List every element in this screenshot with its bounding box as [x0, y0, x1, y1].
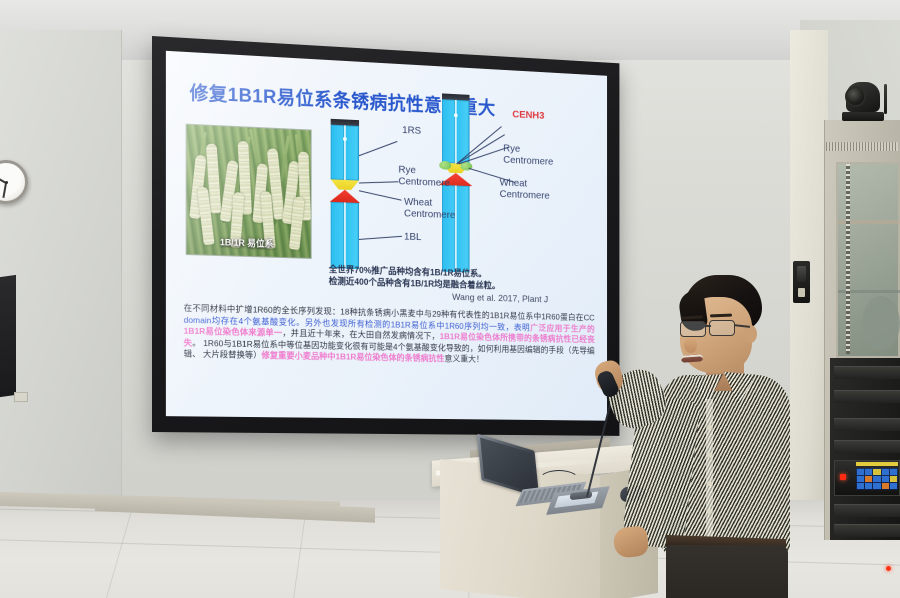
camera-mount: [842, 112, 884, 121]
lecture-room-scene: 修复1B1R易位系条锈病抗性意义重大: [0, 0, 900, 598]
centromere-text: Centromere: [503, 154, 553, 168]
presentation-slide[interactable]: 修复1B1R易位系条锈病抗性意义重大: [166, 51, 607, 421]
rye-text: Rye: [398, 164, 415, 176]
glasses-bridge: [705, 325, 711, 327]
cable: [538, 470, 580, 492]
body-line-5a: 大片段替换等）: [203, 349, 262, 360]
chromosome-left: [331, 119, 359, 257]
photo-caption: 1B/1R 易位系: [220, 235, 273, 250]
label-rye-centromere-left: Rye Centromere: [398, 164, 449, 189]
rack-lcd-display: [856, 468, 898, 490]
shirt-placket: [706, 399, 713, 549]
wheat-text: Wheat: [404, 196, 432, 209]
label-1bl: 1BL: [404, 231, 421, 243]
rack-label-strip: [856, 462, 898, 466]
presenter: [640, 275, 840, 598]
switch-knob[interactable]: [797, 266, 806, 282]
label-1rs: 1RS: [402, 124, 421, 137]
cabinet-vent: [826, 142, 898, 151]
presenter-trousers: [666, 545, 788, 598]
camera-antenna: [884, 84, 887, 114]
presenter-right-hand: [613, 525, 650, 558]
rack-unit[interactable]: [834, 504, 900, 517]
wall-plate: [14, 392, 28, 402]
slide-body-paragraph: 在不同材料中扩增1R60的全长序列发现：18种抗条锈病小黑麦中与29种有代表性的…: [184, 303, 595, 368]
presenter-ear: [744, 325, 757, 343]
label-rye-centromere-right: Rye Centromere: [503, 143, 553, 168]
rack-unit[interactable]: [834, 366, 900, 379]
body-line-5b: 意义重大！: [444, 354, 483, 364]
rack-unit[interactable]: [834, 524, 900, 537]
rack-unit[interactable]: [834, 440, 900, 453]
glasses-lens-left: [680, 321, 706, 337]
centromere-text: Centromere: [500, 188, 550, 201]
camera-lens: [845, 86, 866, 107]
shirt-button: [707, 425, 712, 430]
glasses-lens-right: [709, 320, 735, 336]
body-line-3-highlight: 易位染色体来源单一: [205, 326, 282, 338]
rack-unit[interactable]: [834, 390, 900, 403]
wall-dark-strip: [0, 275, 16, 397]
switch-indicator: [798, 288, 805, 297]
power-led: [840, 474, 846, 480]
label-wheat-centromere-left: Wheat Centromere: [404, 196, 455, 221]
body-line-5-highlight: 修复重要小麦品种中1B1R易位染色体的条锈病抗性: [262, 350, 445, 363]
shirt-button: [707, 509, 712, 514]
label-wheat-centromere-right: Wheat Centromere: [500, 177, 550, 202]
citation: Wang et al. 2017, Plant J: [452, 292, 548, 305]
ceiling: [0, 0, 900, 60]
body-line-3b: 。: [192, 338, 201, 348]
shirt-button: [707, 481, 712, 486]
rack-unit[interactable]: [834, 418, 900, 431]
wheat-field-photo: 1B/1R 易位系: [186, 124, 312, 259]
projection-screen-bezel: 修复1B1R易位系条锈病抗性意义重大: [152, 36, 619, 436]
presenter-nose: [684, 337, 697, 353]
rack-rail: [846, 164, 850, 354]
cabinet-contents: [862, 296, 900, 350]
label-cenh3: CENH3: [512, 109, 544, 122]
rye-text: Rye: [503, 143, 520, 155]
centromere-text: Centromere: [404, 208, 455, 221]
wall-control-switch[interactable]: [793, 261, 810, 303]
shirt-button: [707, 453, 712, 458]
left-wall-panel: [0, 30, 122, 550]
centromere-text: Centromere: [398, 175, 449, 189]
status-led: [886, 566, 891, 571]
